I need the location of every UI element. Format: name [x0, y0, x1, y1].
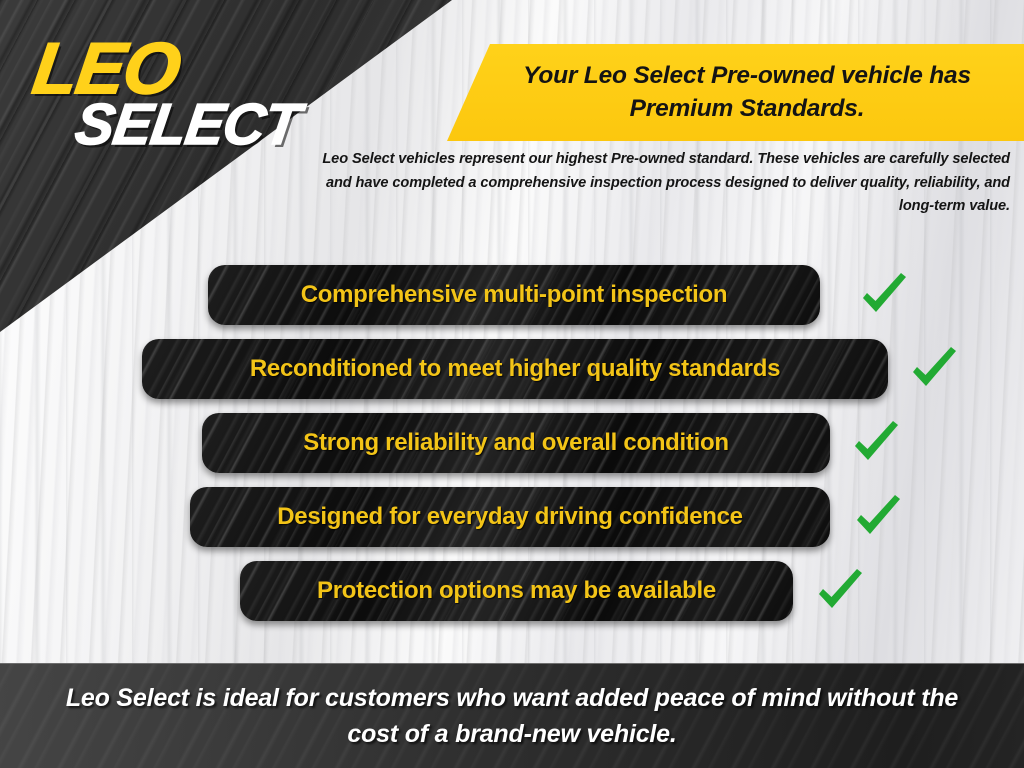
headline-text: Your Leo Select Pre-owned vehicle has Pr…	[473, 60, 1021, 125]
green-check-icon	[906, 342, 962, 398]
brand-logo: LEO SELECT	[34, 36, 334, 152]
feature-row: Strong reliability and overall condition	[0, 413, 1024, 487]
footer-tagline: Leo Select is ideal for customers who wa…	[62, 681, 962, 752]
feature-label: Protection options may be available	[295, 577, 738, 605]
feature-pill-1: Comprehensive multi-point inspection	[208, 265, 820, 325]
green-check-icon	[812, 564, 868, 620]
feature-pill-3: Strong reliability and overall condition	[202, 413, 830, 473]
feature-row: Comprehensive multi-point inspection	[0, 265, 1024, 339]
feature-pill-4: Designed for everyday driving confidence	[190, 487, 830, 547]
green-check-icon	[848, 416, 904, 472]
logo-text-select: SELECT	[72, 98, 337, 151]
feature-pill-5: Protection options may be available	[240, 561, 793, 621]
feature-row: Designed for everyday driving confidence	[0, 487, 1024, 561]
feature-label: Designed for everyday driving confidence	[255, 503, 764, 531]
feature-label: Comprehensive multi-point inspection	[279, 281, 750, 309]
headline-banner: Your Leo Select Pre-owned vehicle has Pr…	[430, 44, 1024, 141]
intro-paragraph: Leo Select vehicles represent our highes…	[310, 148, 1010, 219]
footer-band: Leo Select is ideal for customers who wa…	[0, 663, 1024, 768]
promo-graphic: LEO SELECT Your Leo Select Pre-owned veh…	[0, 0, 1024, 768]
feature-pill-2: Reconditioned to meet higher quality sta…	[142, 339, 888, 399]
feature-list: Comprehensive multi-point inspection Rec…	[0, 265, 1024, 635]
green-check-icon	[850, 490, 906, 546]
feature-row: Reconditioned to meet higher quality sta…	[0, 339, 1024, 413]
green-check-icon	[856, 268, 912, 324]
feature-label: Strong reliability and overall condition	[281, 429, 750, 457]
feature-row: Protection options may be available	[0, 561, 1024, 635]
feature-label: Reconditioned to meet higher quality sta…	[228, 355, 802, 383]
